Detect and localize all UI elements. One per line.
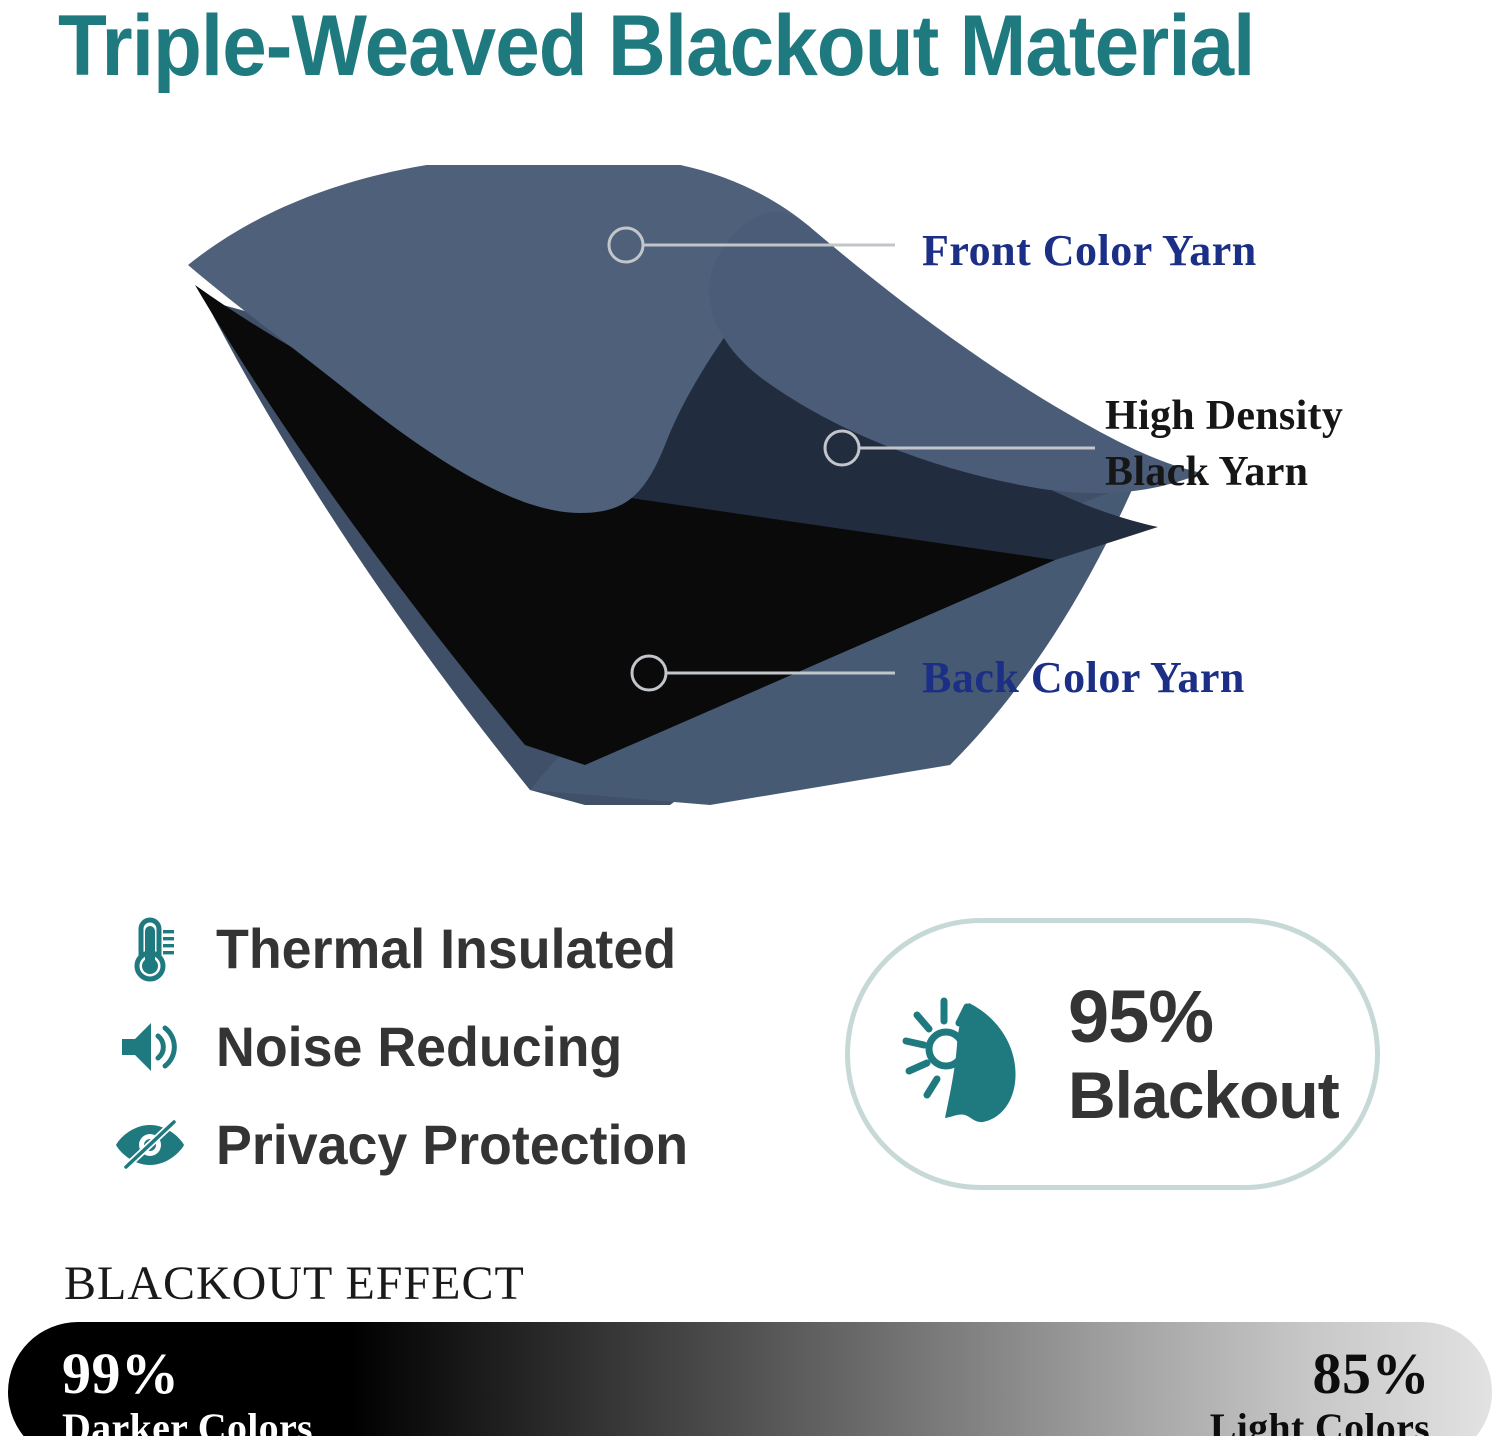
thermometer-icon xyxy=(112,911,188,987)
feature-item-thermal-insulated: Thermal Insulated xyxy=(112,900,772,998)
gradient-bar-right-percent: 85% xyxy=(1210,1344,1430,1405)
callout-label-back-color-yarn: Back Color Yarn xyxy=(922,652,1245,703)
speaker-sound-icon xyxy=(112,1009,188,1085)
gradient-bar-left-stat: 99% Darker Colors xyxy=(62,1344,313,1436)
gradient-bar-right-stat: 85% Light Colors xyxy=(1210,1344,1430,1436)
eye-off-icon xyxy=(112,1107,188,1183)
badge-text-block: 95% Blackout xyxy=(1068,980,1339,1128)
blackout-effect-heading: BLACKOUT EFFECT xyxy=(64,1256,525,1311)
gradient-bar-right-label: Light Colors xyxy=(1210,1407,1430,1436)
feature-label-noise-reducing: Noise Reducing xyxy=(216,1017,622,1077)
feature-list: Thermal Insulated Noise Reducing xyxy=(112,900,772,1194)
badge-percent: 95% xyxy=(1068,980,1339,1054)
blackout-effect-gradient-bar: 99% Darker Colors 85% Light Colors xyxy=(8,1322,1492,1436)
badge-word: Blackout xyxy=(1068,1062,1339,1128)
gradient-bar-left-percent: 99% xyxy=(62,1344,313,1405)
feature-item-noise-reducing: Noise Reducing xyxy=(112,998,772,1096)
gradient-bar-left-label: Darker Colors xyxy=(62,1407,313,1436)
blackout-percentage-badge: 95% Blackout xyxy=(845,918,1380,1190)
callout-label-line-2: Black Yarn xyxy=(1105,444,1343,500)
callout-label-front-color-yarn: Front Color Yarn xyxy=(922,225,1257,276)
callout-label-high-density-black-yarn: High Density Black Yarn xyxy=(1105,388,1343,500)
feature-label-thermal-insulated: Thermal Insulated xyxy=(216,919,676,979)
feature-label-privacy-protection: Privacy Protection xyxy=(216,1115,688,1175)
page-title: Triple-Weaved Blackout Material xyxy=(58,0,1379,98)
sun-behind-curtain-icon xyxy=(892,974,1052,1134)
feature-item-privacy-protection: Privacy Protection xyxy=(112,1096,772,1194)
callout-label-line-1: High Density xyxy=(1105,388,1343,444)
infographic-page: Triple-Weaved Blackout Material xyxy=(0,0,1492,1436)
